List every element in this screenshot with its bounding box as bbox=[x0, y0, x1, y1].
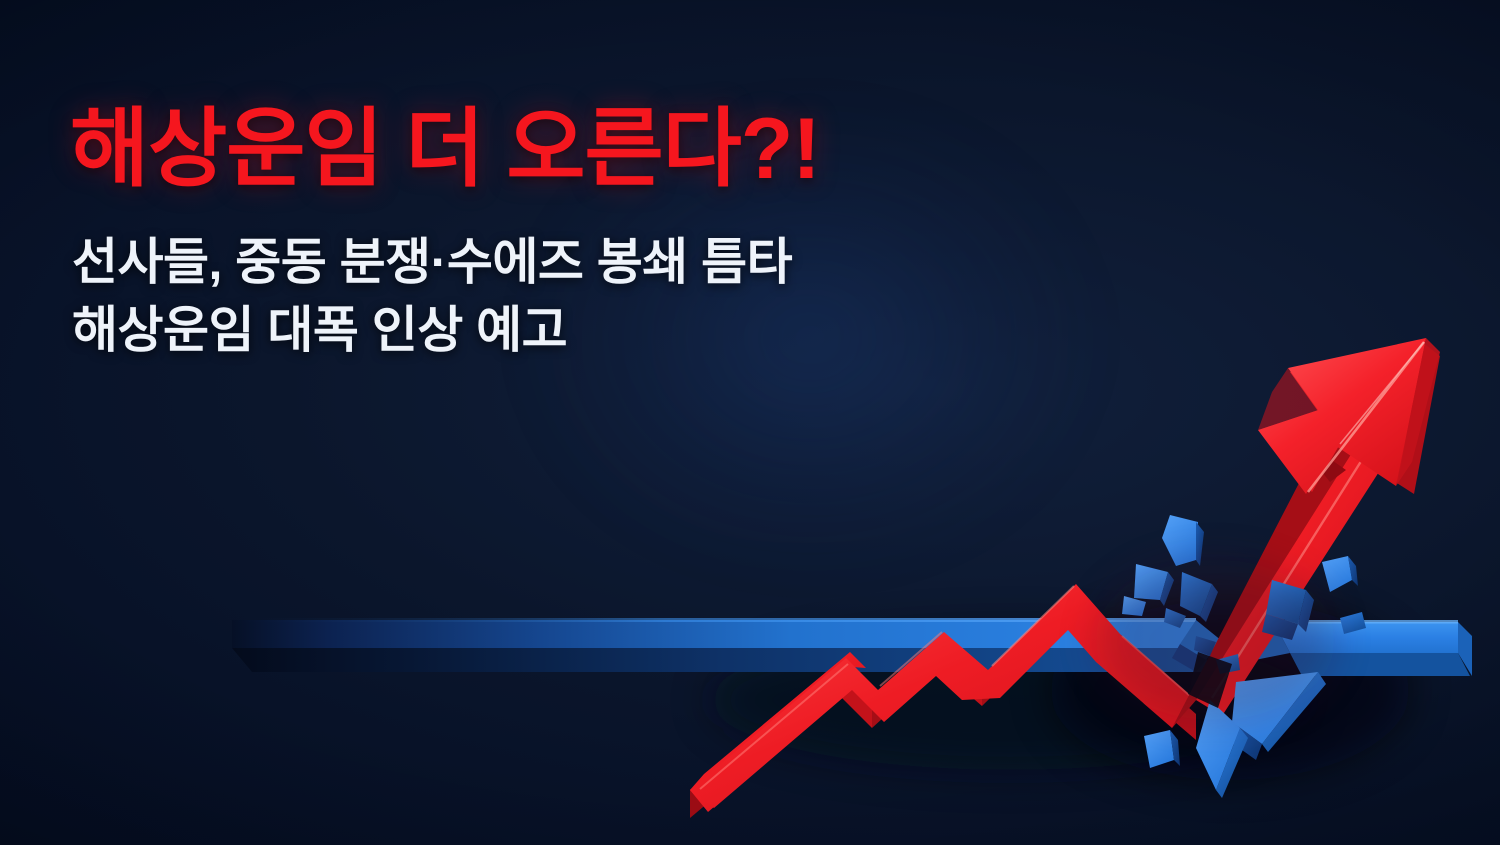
page-subtitle: 선사들, 중동 분쟁·수에즈 봉쇄 틈타 해상운임 대폭 인상 예고 bbox=[72, 228, 792, 364]
subtitle-line-1: 선사들, 중동 분쟁·수에즈 봉쇄 틈타 bbox=[72, 228, 792, 296]
subtitle-line-2: 해상운임 대폭 인상 예고 bbox=[72, 296, 792, 364]
news-card-canvas: 해상운임 더 오른다?! 선사들, 중동 분쟁·수에즈 봉쇄 틈타 해상운임 대… bbox=[0, 0, 1500, 845]
page-headline: 해상운임 더 오른다?! bbox=[70, 104, 820, 194]
